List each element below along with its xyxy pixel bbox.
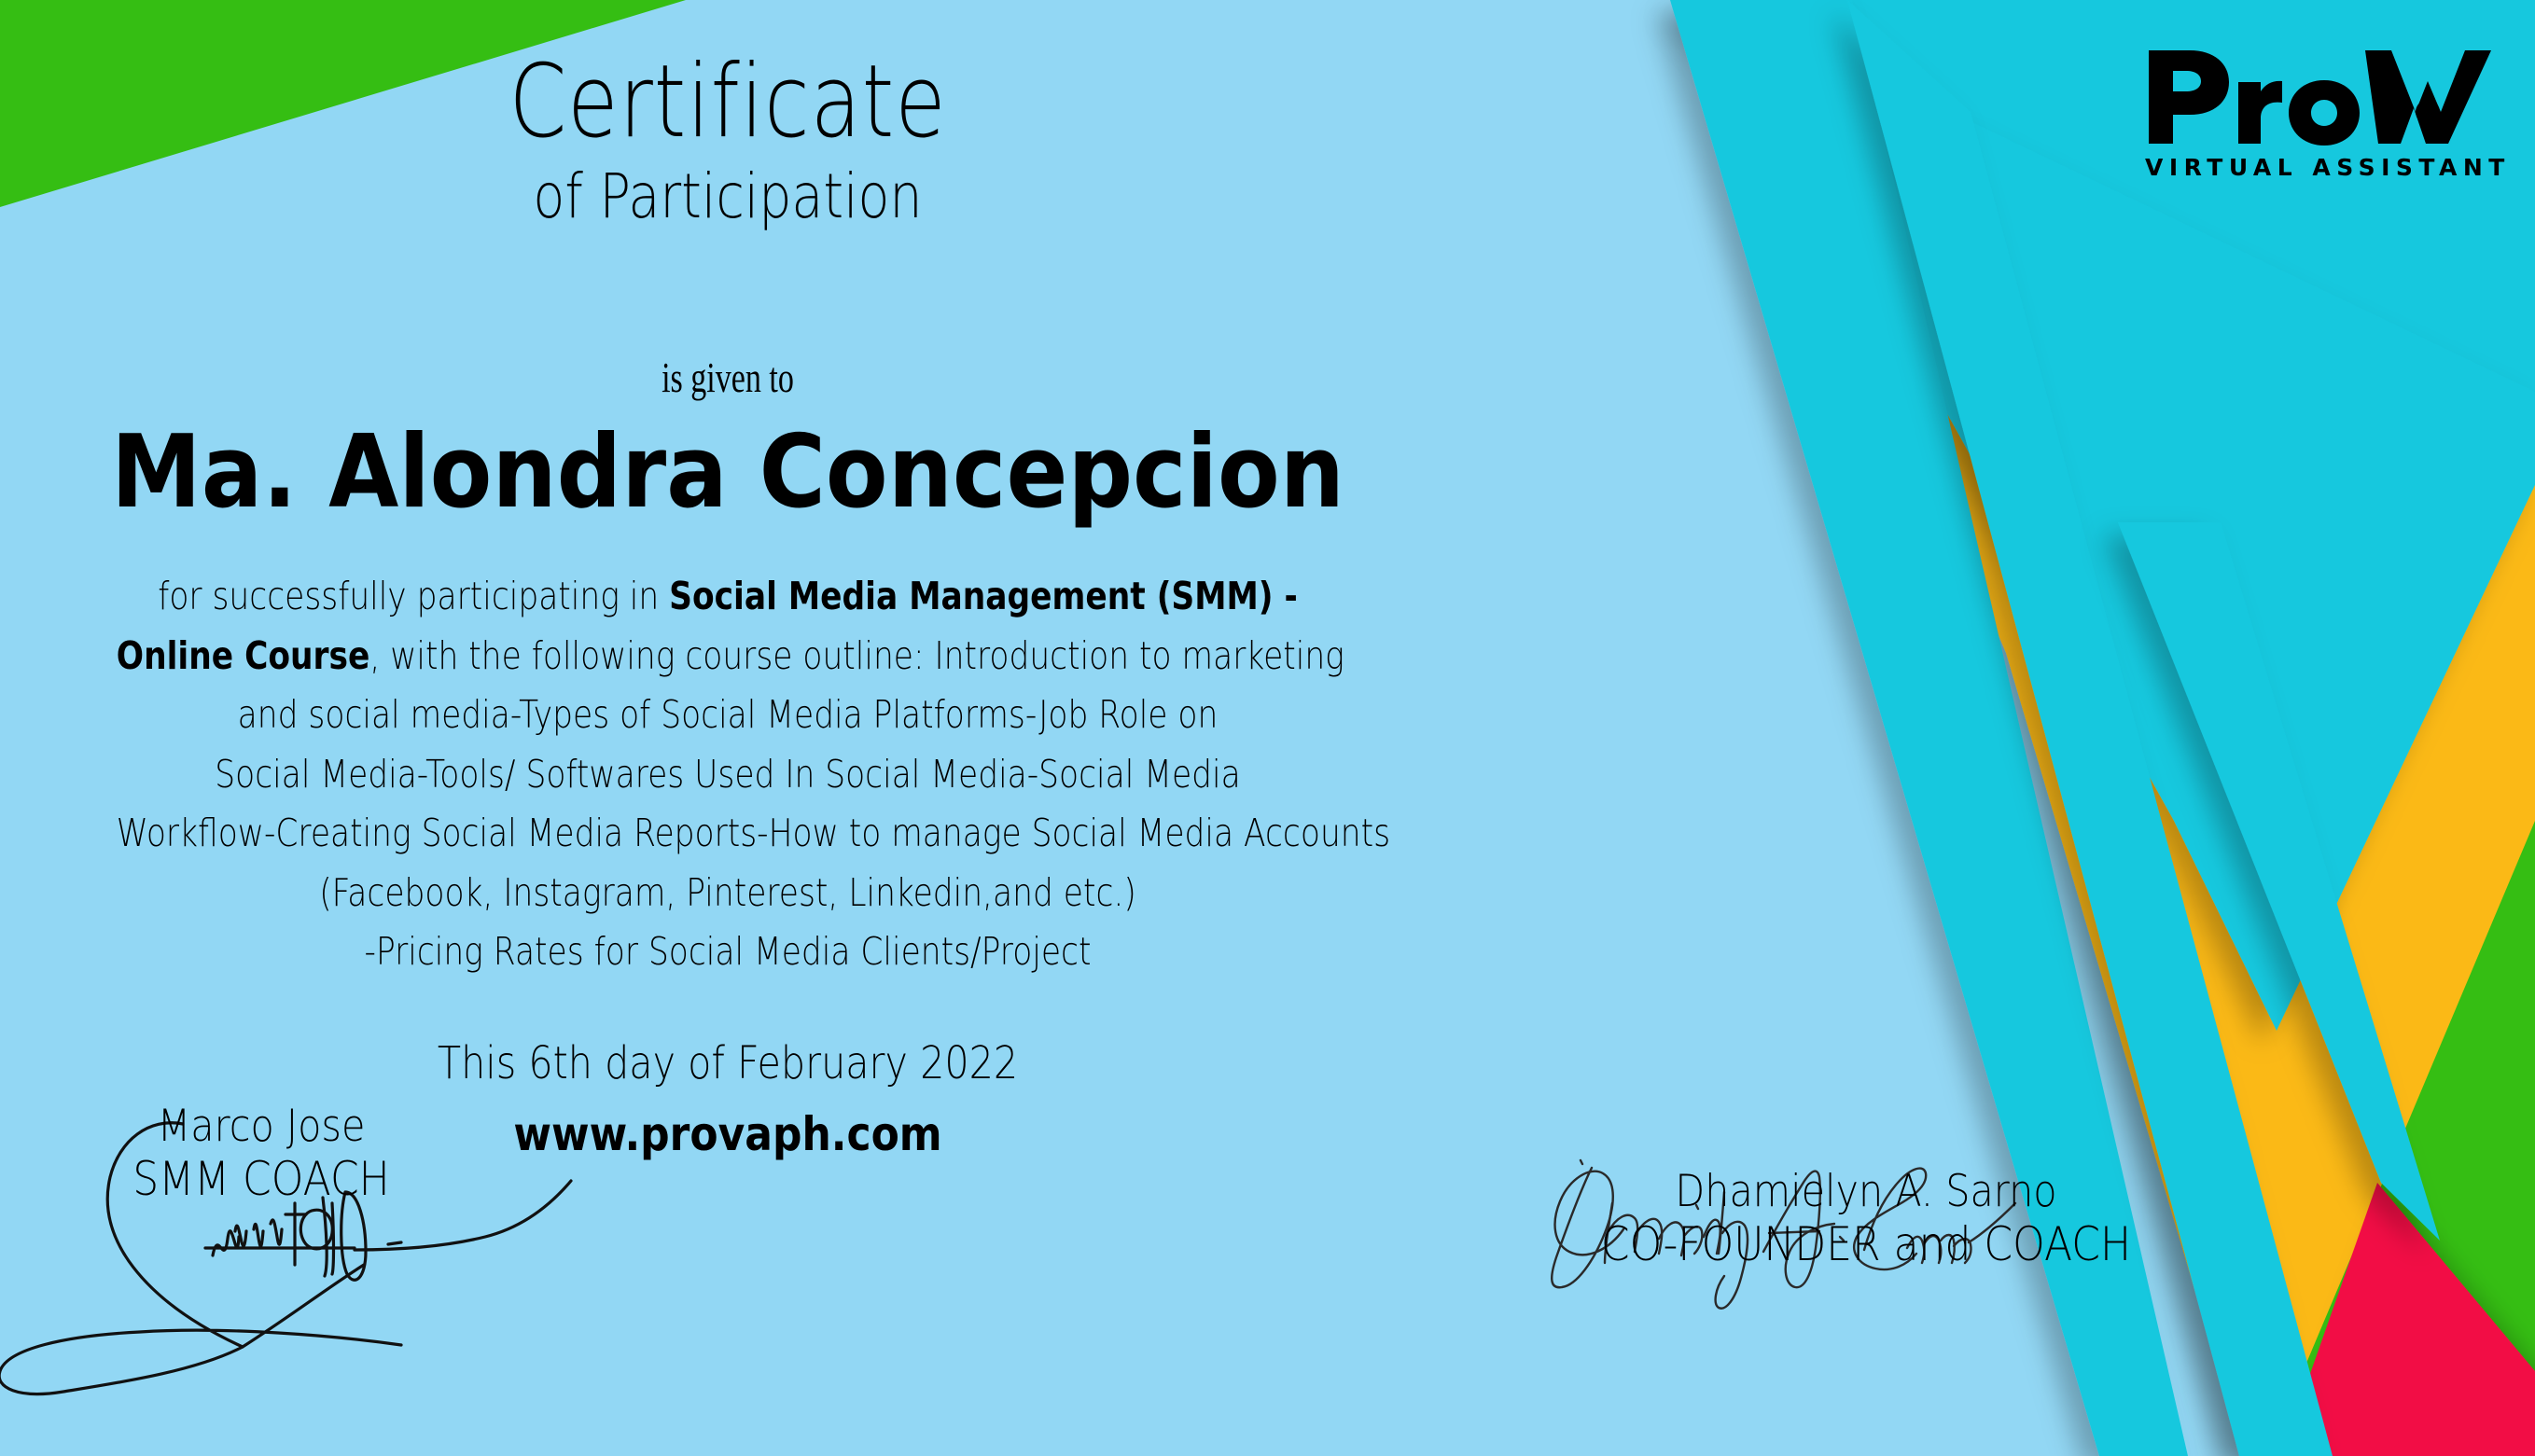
- signature-role-right: CO-FOUNDER and COACH: [1538, 1217, 2194, 1272]
- page-subtitle: of Participation: [117, 159, 1339, 236]
- body-text-run: Workflow-Creating Social Media Reports-H…: [117, 811, 1390, 855]
- body-line: -Pricing Rates for Social Media Clients/…: [117, 922, 1339, 982]
- body-line: and social media-Types of Social Media P…: [117, 686, 1339, 745]
- body-text-run: , with the following course outline: Int…: [369, 633, 1344, 678]
- date-line: This 6th day of February 2022: [102, 1037, 1354, 1089]
- logo-tagline: VIRTUAL ASSISTANT: [2145, 154, 2514, 181]
- heading-block: Certificate of Participation: [0, 52, 1456, 236]
- recipient-name: Ma. Alondra Concepcion: [73, 420, 1383, 525]
- body-line: Online Course, with the following course…: [117, 627, 1339, 686]
- body-text-run: for successfully participating in: [158, 574, 669, 618]
- signature-block-right: Dhamielyn A. Sarno CO-FOUNDER and COACH: [1493, 1166, 2239, 1272]
- prova-logo[interactable]: VIRTUAL ASSISTANT: [2141, 47, 2514, 177]
- signature-name-right: Dhamielyn A. Sarno: [1538, 1166, 2194, 1217]
- body-line: Social Media-Tools/ Softwares Used In So…: [117, 745, 1339, 805]
- body-emphasis: Online Course: [117, 633, 370, 678]
- certificate-canvas: Certificate of Participation is given to…: [0, 0, 2535, 1456]
- signature-name-left: Marco Jose: [48, 1101, 475, 1152]
- body-emphasis: Social Media Management (SMM) -: [669, 574, 1298, 618]
- body-text-run: and social media-Types of Social Media P…: [238, 692, 1219, 737]
- body-text-run: (Facebook, Instagram, Pinterest, Linkedi…: [319, 870, 1136, 915]
- body-line: Workflow-Creating Social Media Reports-H…: [117, 804, 1339, 864]
- given-to-label: is given to: [189, 353, 1266, 402]
- page-title: Certificate: [131, 52, 1324, 153]
- prova-wordmark-icon: [2141, 47, 2514, 147]
- body-line: for successfully participating in Social…: [117, 567, 1339, 627]
- signature-role-left: SMM COACH: [48, 1152, 475, 1207]
- signature-block-left: Marco Jose SMM COACH: [19, 1101, 504, 1207]
- body-line: (Facebook, Instagram, Pinterest, Linkedi…: [117, 864, 1339, 923]
- body-text-run: Social Media-Tools/ Softwares Used In So…: [215, 752, 1240, 797]
- body-text-run: -Pricing Rates for Social Media Clients/…: [365, 929, 1092, 974]
- certificate-body: for successfully participating in Social…: [117, 567, 1339, 982]
